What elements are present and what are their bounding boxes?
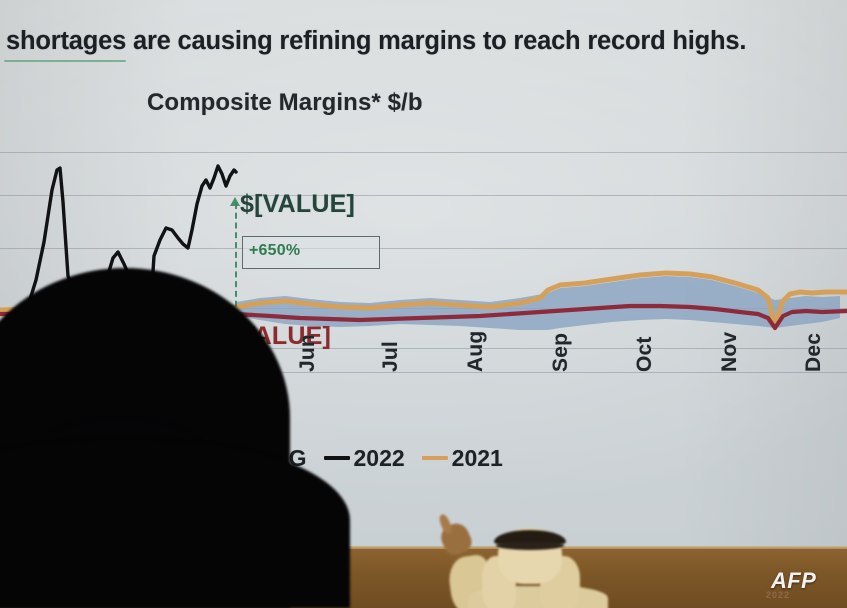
photograph: shortages are causing refining margins t… [0, 0, 847, 608]
headline-underline [4, 60, 126, 62]
xaxis-label-aug: Aug [464, 331, 488, 372]
chart-title: Composite Margins* $/b [147, 89, 423, 117]
xaxis-label-dec: Dec [802, 333, 826, 372]
callout-percent-text: +650% [249, 242, 300, 260]
legend-label-2021: 2021 [452, 445, 503, 472]
speaker-figure [420, 512, 630, 608]
speaker-agal-band-lower [496, 541, 564, 550]
xaxis-label-oct: Oct [633, 336, 657, 372]
legend-swatch-2022 [324, 456, 350, 460]
afp-watermark-year: 2022 [766, 590, 790, 600]
xaxis-label-nov: Nov [718, 332, 742, 372]
xaxis-label-sep: Sep [549, 333, 573, 372]
foreground-silhouette-shoulders [0, 440, 350, 608]
slide-headline: shortages are causing refining margins t… [6, 27, 746, 56]
legend-item-2022: 2022 [324, 445, 405, 472]
legend-swatch-2021 [422, 456, 448, 460]
legend-label-2022: 2022 [354, 445, 405, 472]
xaxis-label-jul: Jul [379, 341, 403, 372]
legend-item-2021: 2021 [422, 445, 503, 472]
data-label-2022: $[VALUE] [240, 190, 355, 219]
xaxis-label-jun: Jun [296, 334, 320, 372]
